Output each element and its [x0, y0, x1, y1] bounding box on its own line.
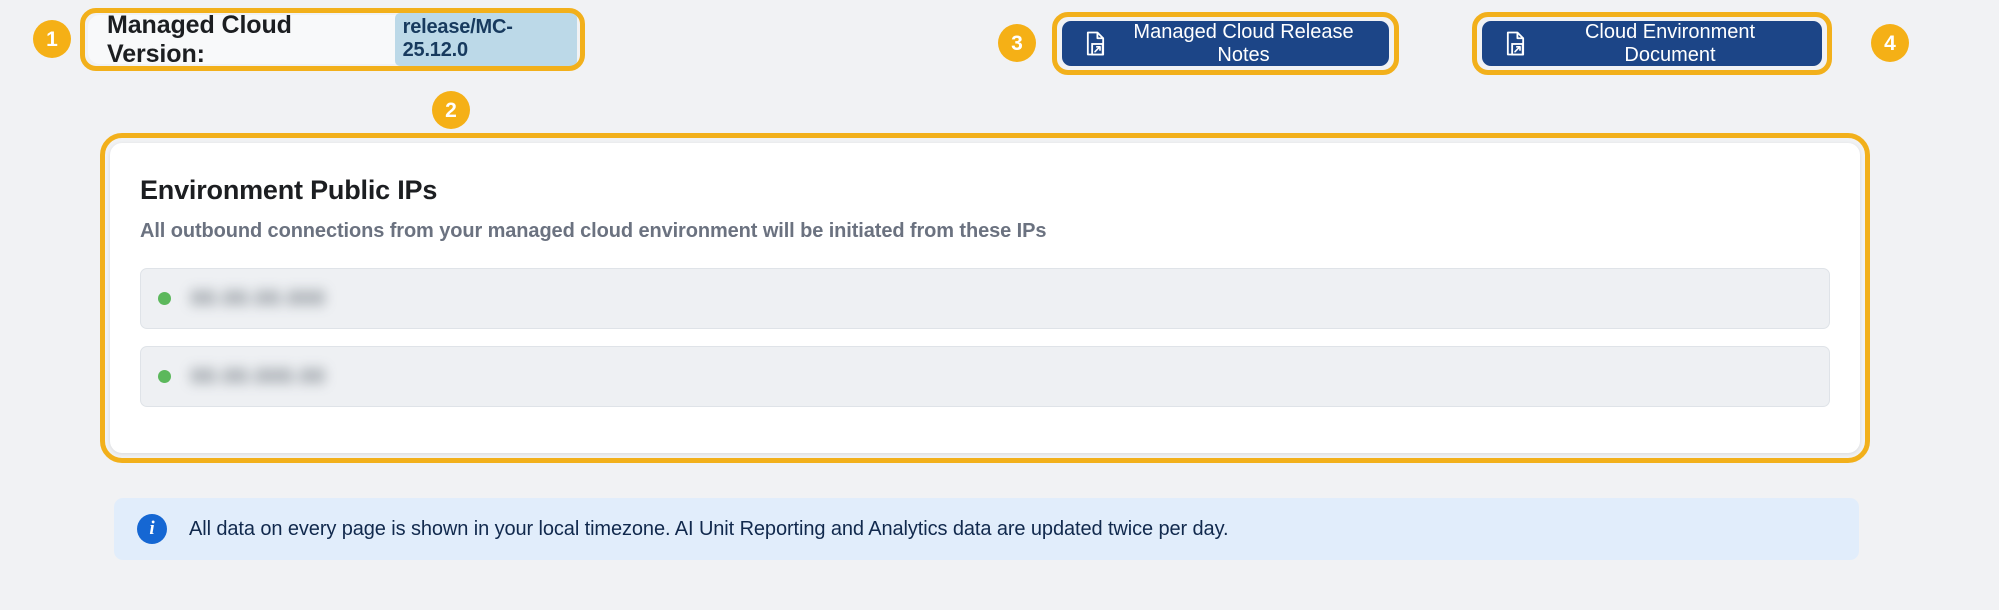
environment-public-ips-card: Environment Public IPs All outbound conn…: [110, 143, 1860, 453]
public-ip-list: 00.00.00.000 00.00.000.00: [140, 268, 1830, 407]
public-ip-value: 00.00.000.00: [191, 365, 326, 389]
managed-cloud-version-label: Managed Cloud Version:: [107, 11, 382, 69]
cloud-environment-document-button[interactable]: Cloud Environment Document: [1482, 21, 1822, 66]
managed-cloud-release-notes-button[interactable]: Managed Cloud Release Notes: [1062, 21, 1389, 66]
status-dot-icon: [158, 370, 171, 383]
cloud-environment-document-button-label: Cloud Environment Document: [1540, 21, 1800, 67]
managed-cloud-version-value-chip: release/MC-25.12.0: [395, 13, 577, 66]
info-circle-icon: i: [137, 514, 167, 544]
managed-cloud-version-box: Managed Cloud Version: release/MC-25.12.…: [88, 15, 577, 64]
environment-public-ips-subtitle: All outbound connections from your manag…: [140, 220, 1830, 243]
document-external-link-icon: [1504, 31, 1527, 56]
annotation-badge-1: 1: [33, 20, 71, 58]
managed-cloud-release-notes-button-label: Managed Cloud Release Notes: [1120, 21, 1367, 67]
document-external-link-icon: [1084, 31, 1107, 56]
annotation-badge-3: 3: [998, 24, 1036, 62]
info-banner-text: All data on every page is shown in your …: [189, 518, 1228, 541]
list-item[interactable]: 00.00.000.00: [140, 346, 1830, 407]
public-ip-value: 00.00.00.000: [191, 287, 326, 311]
status-dot-icon: [158, 292, 171, 305]
info-banner: i All data on every page is shown in you…: [114, 498, 1859, 560]
list-item[interactable]: 00.00.00.000: [140, 268, 1830, 329]
annotation-badge-2: 2: [432, 91, 470, 129]
annotation-badge-4: 4: [1871, 24, 1909, 62]
environment-public-ips-title: Environment Public IPs: [140, 175, 1830, 206]
